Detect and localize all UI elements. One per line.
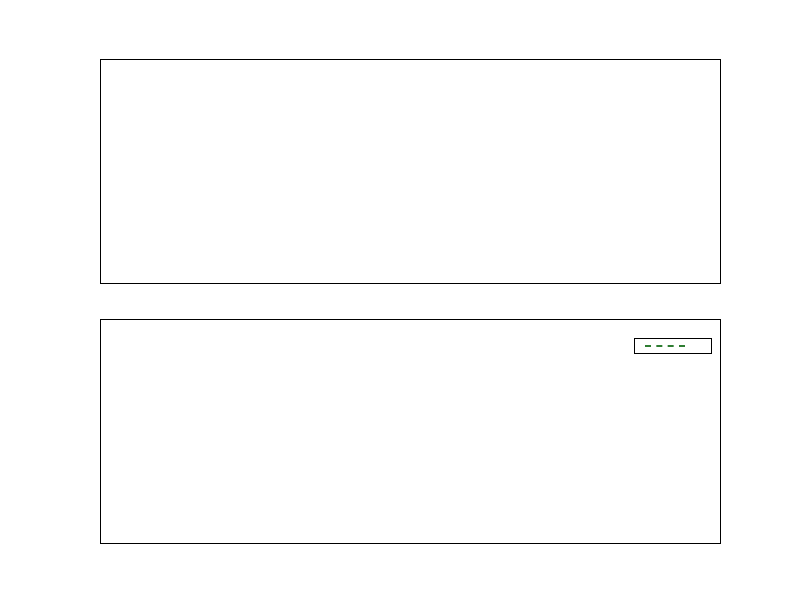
legend[interactable] [634,338,712,354]
cumulative-curve-svg [101,320,722,545]
top-x-tick-labels [0,289,800,311]
bottom-x-tick-labels [0,549,800,571]
bottom-y-tick-labels [0,0,100,600]
histogram-bars [101,60,720,283]
figure [0,0,800,600]
bottom-cumulative-axes [100,319,721,544]
legend-dash-line-icon [645,345,685,347]
top-histogram-axes [100,59,721,284]
